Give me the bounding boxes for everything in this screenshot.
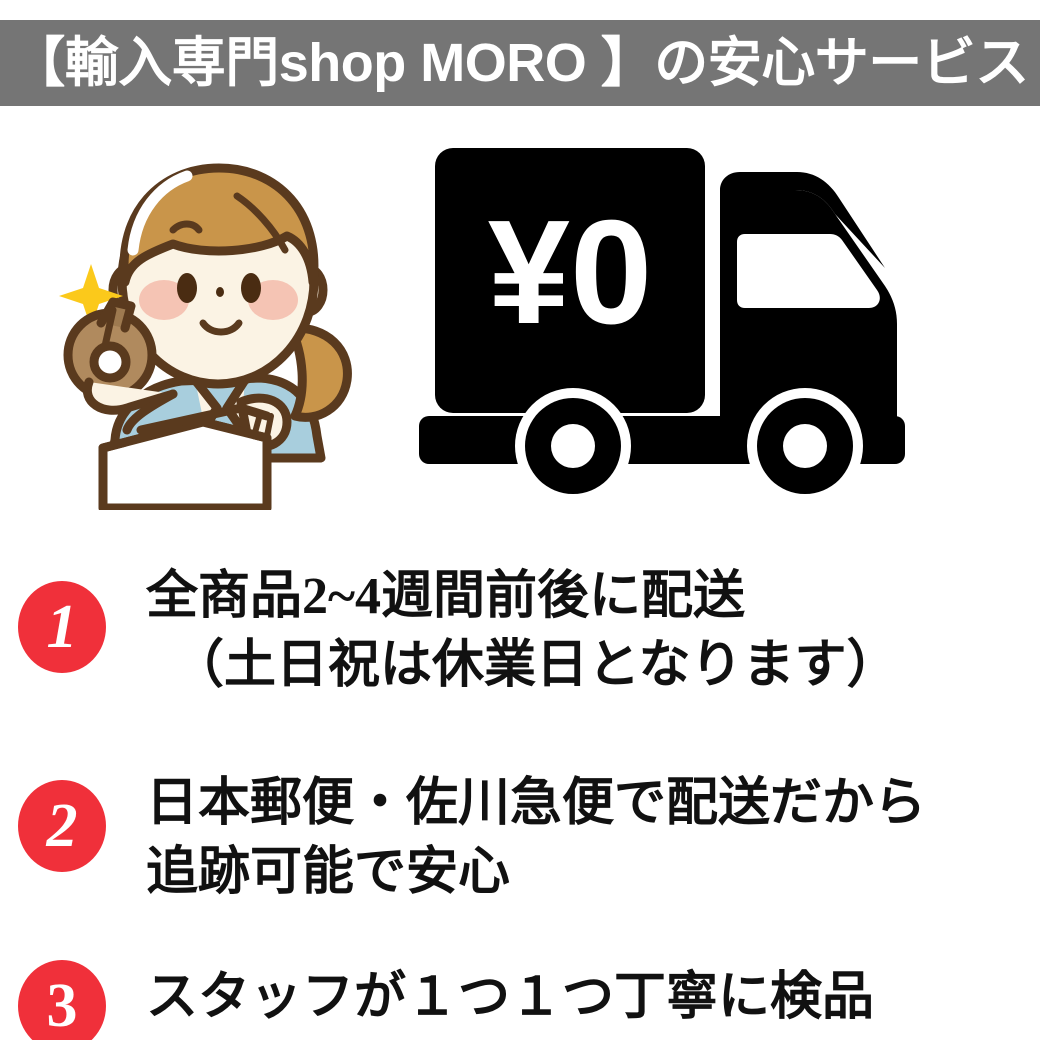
benefit-item-2: 2 日本郵便・佐川急便で配送だから 追跡可能で安心 bbox=[0, 770, 1040, 907]
benefit-item-1: 1 全商品2~4週間前後に配送 （土日祝は休業日となります） bbox=[0, 563, 1040, 700]
header-banner: 【輸入専門shop MORO 】の安心サービス bbox=[0, 20, 1040, 106]
truck-cargo-label: ¥0 bbox=[488, 190, 653, 355]
benefit-line: 全商品2~4週間前後に配送 bbox=[146, 563, 1040, 632]
benefit-line: （土日祝は休業日となります） bbox=[146, 632, 1040, 701]
benefit-number-badge-1: 1 bbox=[18, 581, 106, 673]
benefit-number-badge-3: 3 bbox=[18, 960, 106, 1040]
benefit-line: スタッフが１つ１つ丁寧に検品 bbox=[146, 964, 1040, 1033]
promo-banner-page: 【輸入専門shop MORO 】の安心サービス bbox=[0, 0, 1040, 1040]
benefit-line: 追跡可能で安心 bbox=[146, 839, 1040, 908]
benefit-item-3: 3 スタッフが１つ１つ丁寧に検品 bbox=[0, 964, 1040, 1040]
illustration-area: ¥0 bbox=[0, 118, 1040, 528]
woman-packing-box-illustration bbox=[55, 140, 395, 510]
benefit-text-2: 日本郵便・佐川急便で配送だから 追跡可能で安心 bbox=[146, 770, 1040, 907]
free-shipping-truck-icon: ¥0 bbox=[415, 148, 985, 498]
benefit-text-3: スタッフが１つ１つ丁寧に検品 bbox=[146, 964, 1040, 1033]
page-title: 【輸入専門shop MORO 】の安心サービス bbox=[11, 36, 1028, 90]
benefit-text-1: 全商品2~4週間前後に配送 （土日祝は休業日となります） bbox=[146, 563, 1040, 700]
benefit-line: 日本郵便・佐川急便で配送だから bbox=[146, 770, 1040, 839]
benefit-number-badge-2: 2 bbox=[18, 780, 106, 872]
benefits-list: 1 全商品2~4週間前後に配送 （土日祝は休業日となります） 2 日本郵便・佐川… bbox=[0, 545, 1040, 1040]
